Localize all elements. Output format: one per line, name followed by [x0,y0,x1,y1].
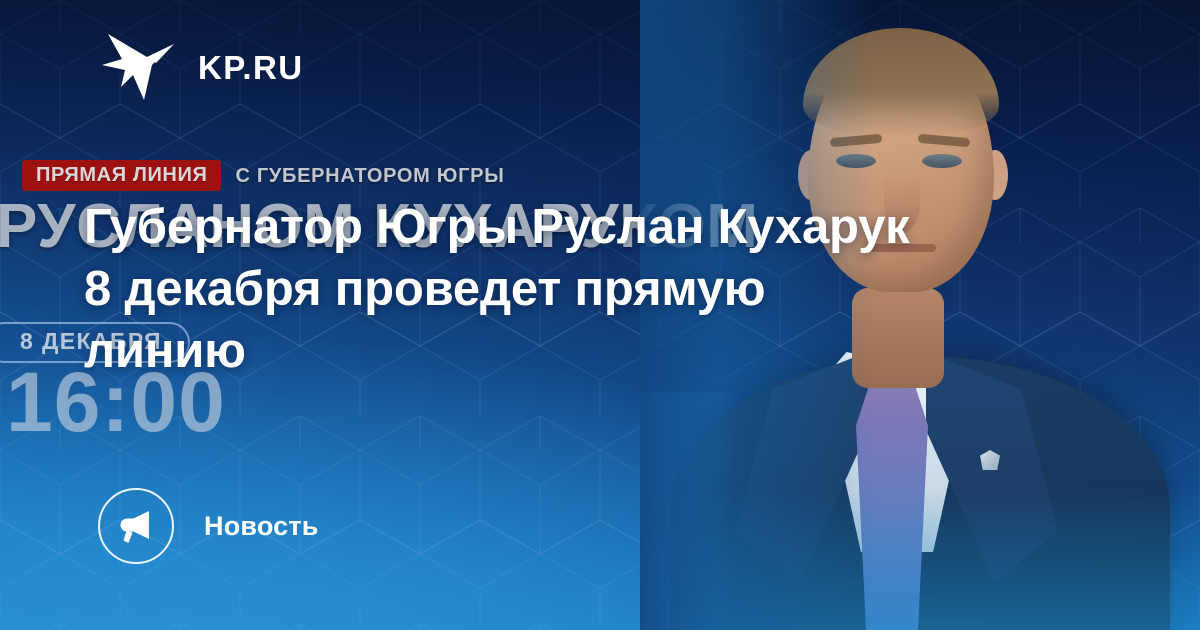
headline-line-2: 8 декабря проведет прямую [84,258,1094,320]
news-share-card: ПРЯМАЯ ЛИНИЯ С ГУБЕРНАТОРОМ ЮГРЫ РУСЛАНО… [0,0,1200,630]
swallow-bird-icon [100,32,178,102]
headline-line-1: Губернатор Югры Руслан Кухарук [84,196,1094,258]
banner-tag-label: ПРЯМАЯ ЛИНИЯ [22,160,221,191]
banner-tag-strip: ПРЯМАЯ ЛИНИЯ С ГУБЕРНАТОРОМ ЮГРЫ [22,160,504,191]
news-category-badge[interactable]: Новость [98,488,319,564]
page-title: Губернатор Югры Руслан Кухарук 8 декабря… [84,196,1094,382]
brand-logo-text: KP.RU [198,51,303,84]
eye-right [922,154,962,168]
necktie [856,368,928,630]
brand-logo[interactable]: KP.RU [100,32,303,102]
eye-left [836,154,876,168]
news-category-label: Новость [204,513,319,540]
megaphone-icon [98,488,174,564]
headline-line-3: линию [84,320,1094,382]
banner-tag-subtitle: С ГУБЕРНАТОРОМ ЮГРЫ [235,166,504,186]
